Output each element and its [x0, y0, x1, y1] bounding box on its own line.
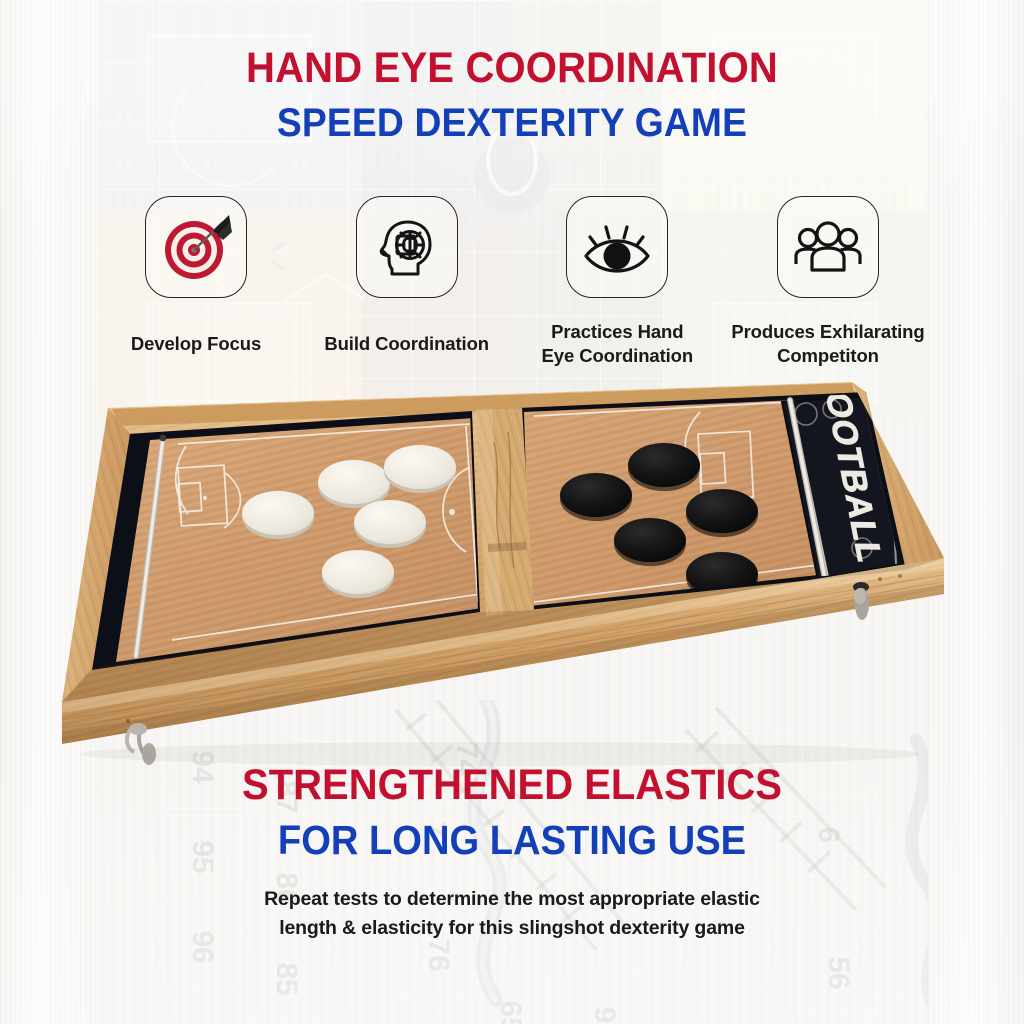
bottom-headline-secondary: FOR LONG LASTING USE [36, 818, 988, 862]
bottom-text-block: STRENGTHENED ELASTICS FOR LONG LASTING U… [0, 762, 1024, 943]
feature-icon-tile [566, 196, 668, 298]
feature-label: Build Coordination [324, 332, 489, 356]
bottom-description-line-1: Repeat tests to determine the most appro… [0, 885, 1024, 914]
feature-icon-tile [777, 196, 879, 298]
feature-item: Build Coordination [307, 196, 507, 367]
feature-icon-tile [145, 196, 247, 298]
headline-secondary: SPEED DEXTERITY GAME [36, 102, 988, 144]
feature-row: Develop Focus Build Coordination [0, 196, 1024, 367]
board-illustration: FOOTBALL [0, 372, 1024, 792]
target-dartboard-icon [159, 210, 233, 284]
bottom-headline-primary: STRENGTHENED ELASTICS [36, 762, 988, 808]
headline-primary: HAND EYE COORDINATION [36, 46, 988, 92]
bottom-description-line-2: length & elasticity for this slingshot d… [0, 914, 1024, 943]
headline-block: HAND EYE COORDINATION SPEED DEXTERITY GA… [0, 46, 1024, 144]
product-image-slingshot-football-board: FOOTBALL [0, 372, 1024, 792]
feature-label: Develop Focus [131, 332, 261, 356]
feature-icon-tile [356, 196, 458, 298]
feature-label: Produces Exhilarating Competiton [731, 320, 924, 367]
eye-icon [581, 214, 653, 280]
elastic-anchor-screw-right [853, 582, 869, 620]
feature-item: Produces Exhilarating Competiton [728, 196, 928, 367]
feature-label: Practices Hand Eye Coordination [542, 320, 694, 367]
head-brain-gear-icon [374, 214, 440, 280]
poster-canvas: 94 87 95 86 96 85 76 74 65 56 9 1 4 5 7 … [0, 0, 1024, 1024]
bottom-description: Repeat tests to determine the most appro… [0, 885, 1024, 944]
people-group-icon [793, 218, 863, 276]
feature-item: Develop Focus [96, 196, 296, 367]
feature-item: Practices Hand Eye Coordination [517, 196, 717, 367]
